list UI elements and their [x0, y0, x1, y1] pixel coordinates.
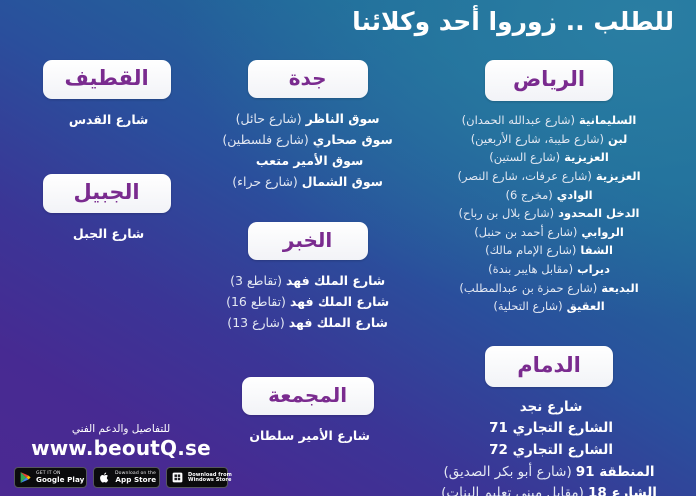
- address-name: الشارع 18: [588, 485, 657, 496]
- city-pill-majmaah[interactable]: المجمعة: [242, 377, 374, 415]
- google-play-badge-text: GET IT ON Google Play: [36, 472, 84, 484]
- list-item: شارع الملك فهد(تقاطع 3): [209, 270, 406, 291]
- address-name: شارع الجبل: [73, 226, 144, 241]
- address-list-khobar: شارع الملك فهد(تقاطع 3) شارع الملك فهد(ت…: [209, 270, 406, 333]
- list-item: السليمانية(شارع عبدالله الحمدان): [420, 111, 678, 130]
- address-detail: (شارع عرفات، شارع النصر): [458, 169, 592, 183]
- city-block-dammam: الدمام شارع نجد الشارع التجاري 71 الشارع…: [420, 346, 678, 496]
- address-detail: (شارع الستين): [489, 150, 560, 164]
- address-detail: (شارع أحمد بن حنبل): [474, 225, 577, 239]
- app-store-badge-text: Download on the App Store: [115, 472, 156, 484]
- address-name: سوق الناظر: [306, 111, 380, 126]
- address-name: لبن: [608, 132, 627, 146]
- app-store-badge[interactable]: Download on the App Store: [93, 467, 159, 488]
- address-name: سوق الأمير متعب: [256, 153, 363, 168]
- city-block-khobar: الخبر شارع الملك فهد(تقاطع 3) شارع الملك…: [209, 222, 406, 333]
- website-url[interactable]: www.beoutQ.se: [14, 437, 228, 460]
- list-item: سوق الناظر(شارع حائل): [209, 108, 406, 129]
- city-block-majmaah: المجمعة شارع الأمير سلطان: [209, 377, 406, 446]
- city-pill-riyadh[interactable]: الرياض: [485, 60, 613, 101]
- address-name: شارع نجد: [520, 399, 583, 415]
- poster-root: للطلب .. زوروا أحد وكلائنا الرياض السليم…: [0, 0, 696, 496]
- address-detail: (تقاطع 16): [226, 294, 286, 309]
- address-detail: (شارع حراء): [232, 174, 297, 189]
- badge-title: App Store: [115, 476, 156, 483]
- list-item: سوق صحاري(شارع فلسطين): [209, 129, 406, 150]
- list-item: العزيزية(شارع عرفات، شارع النصر): [420, 167, 678, 186]
- list-item: شارع الأمير سلطان: [209, 425, 406, 446]
- address-detail: (مقابل مبنى تعليم البنات): [441, 485, 584, 496]
- apple-icon: [98, 471, 111, 484]
- address-list-dammam: شارع نجد الشارع التجاري 71 الشارع التجار…: [420, 397, 678, 496]
- city-block-jubail: الجبيل شارع الجبل: [16, 174, 197, 244]
- address-name: شارع الملك فهد: [289, 315, 388, 330]
- city-pill-jeddah[interactable]: جدة: [248, 60, 368, 98]
- windows-store-badge[interactable]: Download from Windows Store: [166, 467, 228, 488]
- list-item: العقيق(شارع التحلية): [420, 297, 678, 316]
- address-list-jubail: شارع الجبل: [16, 223, 197, 244]
- address-list-majmaah: شارع الأمير سلطان: [209, 425, 406, 446]
- list-item: شارع القدس: [16, 109, 197, 130]
- list-item: الشارع التجاري 72: [420, 440, 678, 462]
- address-detail: (شارع التحلية): [493, 299, 562, 313]
- page-title: للطلب .. زوروا أحد وكلائنا: [0, 6, 674, 39]
- address-detail: (شارع فلسطين): [222, 132, 308, 147]
- address-detail: (شارع حمزة بن عبدالمطلب): [459, 281, 597, 295]
- list-item: لبن(شارع طيبة، شارع الأربعين): [420, 130, 678, 149]
- app-store-badges: GET IT ON Google Play Download on the Ap…: [14, 467, 228, 488]
- address-name: البديعة: [601, 281, 638, 295]
- list-item: شارع الجبل: [16, 223, 197, 244]
- list-item: العزيزية(شارع الستين): [420, 148, 678, 167]
- city-pill-jubail[interactable]: الجبيل: [43, 174, 171, 213]
- address-detail: (شارع الإمام مالك): [485, 243, 576, 257]
- address-name: شارع القدس: [69, 112, 149, 127]
- address-name: المنطقة 91: [576, 464, 655, 480]
- address-list-qatif: شارع القدس: [16, 109, 197, 130]
- list-item: شارع نجد: [420, 397, 678, 419]
- address-detail: (شارع عبدالله الحمدان): [462, 113, 575, 127]
- footer: للتفاصيل والدعم الفني www.beoutQ.se GET …: [14, 423, 228, 488]
- address-name: شارع الملك فهد: [286, 273, 385, 288]
- list-item: الوادي(مخرج 6): [420, 186, 678, 205]
- address-name: العزيزية: [596, 169, 641, 183]
- address-name: الشفا: [580, 243, 613, 257]
- badge-title: Google Play: [36, 476, 84, 483]
- address-name: العزيزية: [564, 150, 609, 164]
- list-item: سوق الشمال(شارع حراء): [209, 171, 406, 192]
- badge-subtitle: Download on the: [115, 471, 167, 476]
- address-name: الشارع التجاري 72: [489, 442, 613, 458]
- list-item: ديراب(مقابل هايبر بندة): [420, 260, 678, 279]
- address-name: الروابي: [581, 225, 623, 239]
- city-pill-qatif[interactable]: القطيف: [43, 60, 171, 99]
- list-item: شارع الملك فهد(شارع 13): [209, 312, 406, 333]
- address-detail: (مخرج 6): [505, 188, 552, 202]
- address-name: ديراب: [577, 262, 610, 276]
- city-block-qatif: القطيف شارع القدس: [16, 60, 197, 130]
- address-name: سوق الشمال: [302, 174, 383, 189]
- poster-header: للطلب .. زوروا أحد وكلائنا: [0, 0, 696, 39]
- list-item: الشارع 18(مقابل مبنى تعليم البنات): [420, 483, 678, 496]
- address-detail: (مقابل هايبر بندة): [488, 262, 573, 276]
- list-item: الشفا(شارع الإمام مالك): [420, 241, 678, 260]
- city-pill-dammam[interactable]: الدمام: [485, 346, 613, 387]
- list-item: البديعة(شارع حمزة بن عبدالمطلب): [420, 279, 678, 298]
- address-detail: (شارع حائل): [236, 111, 302, 126]
- address-name: شارع الأمير سلطان: [249, 428, 370, 443]
- google-play-badge[interactable]: GET IT ON Google Play: [14, 467, 87, 488]
- address-name: سوق صحاري: [313, 132, 393, 147]
- address-name: السليمانية: [579, 113, 636, 127]
- address-detail: (شارع 13): [227, 315, 284, 330]
- list-item: شارع الملك فهد(تقاطع 16): [209, 291, 406, 312]
- footer-caption: للتفاصيل والدعم الفني: [14, 423, 228, 436]
- list-item: المنطقة 91(شارع أبو بكر الصديق): [420, 462, 678, 484]
- list-item: سوق الأمير متعب: [209, 150, 406, 171]
- address-name: الشارع التجاري 71: [489, 420, 613, 436]
- address-name: الدخل المحدود: [558, 206, 639, 220]
- city-block-jeddah: جدة سوق الناظر(شارع حائل) سوق صحاري(شارع…: [209, 60, 406, 192]
- address-list-jeddah: سوق الناظر(شارع حائل) سوق صحاري(شارع فلس…: [209, 108, 406, 192]
- address-list-riyadh: السليمانية(شارع عبدالله الحمدان) لبن(شار…: [420, 111, 678, 316]
- column-riyadh-dammam: الرياض السليمانية(شارع عبدالله الحمدان) …: [412, 52, 686, 496]
- list-item: الدخل المحدود(شارع بلال بن رباح): [420, 204, 678, 223]
- list-item: الشارع التجاري 71: [420, 418, 678, 440]
- address-detail: (تقاطع 3): [230, 273, 282, 288]
- address-detail: (شارع طيبة، شارع الأربعين): [471, 132, 604, 146]
- badge-title: Windows Store: [188, 477, 232, 483]
- address-name: شارع الملك فهد: [290, 294, 389, 309]
- column-jeddah-khobar-majmaah: جدة سوق الناظر(شارع حائل) سوق صحاري(شارع…: [203, 52, 412, 496]
- city-block-riyadh: الرياض السليمانية(شارع عبدالله الحمدان) …: [420, 60, 678, 316]
- badge-subtitle: GET IT ON: [36, 471, 98, 476]
- address-detail: (شارع بلال بن رباح): [459, 206, 555, 220]
- google-play-icon: [19, 471, 32, 484]
- windows-store-icon: [171, 471, 184, 484]
- list-item: الروابي(شارع أحمد بن حنبل): [420, 223, 678, 242]
- city-pill-khobar[interactable]: الخبر: [248, 222, 368, 260]
- address-name: الوادي: [557, 188, 593, 202]
- address-name: العقيق: [567, 299, 605, 313]
- address-detail: (شارع أبو بكر الصديق): [444, 464, 572, 480]
- windows-store-badge-text: Download from Windows Store: [188, 473, 225, 483]
